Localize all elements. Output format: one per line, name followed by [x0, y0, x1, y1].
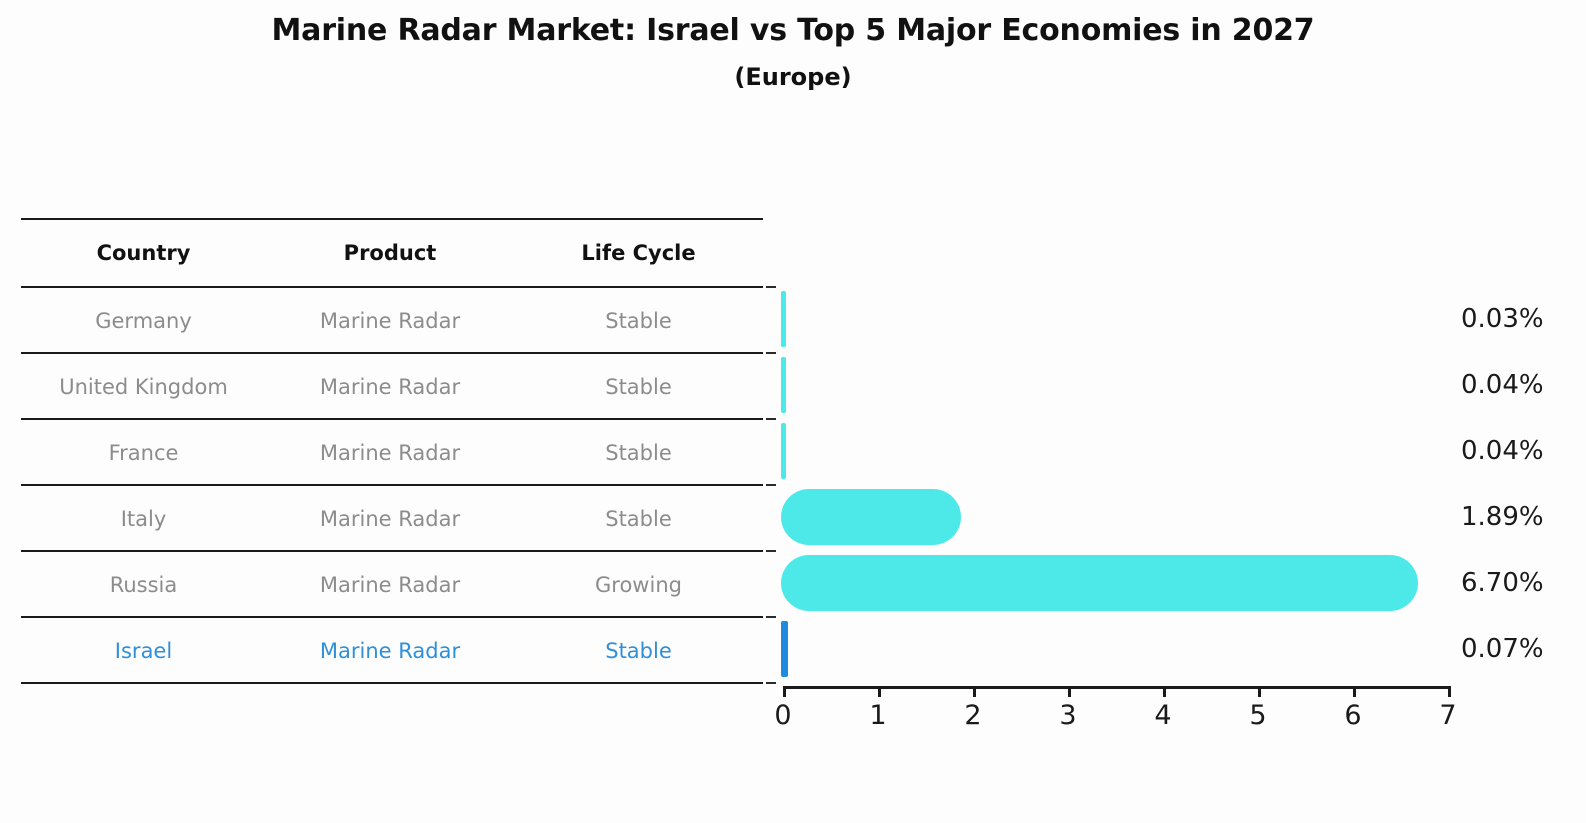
x-axis-tick-label: 4 [1154, 700, 1171, 731]
bar-united-kingdom[interactable] [781, 357, 786, 413]
row-separator-tick [766, 550, 776, 552]
x-axis-tick [1068, 686, 1071, 697]
row-separator-tick [766, 484, 776, 486]
row-separator-tick [766, 616, 776, 618]
x-axis-tick [878, 686, 881, 697]
x-axis-tick [1353, 686, 1356, 697]
bar-value-label: 0.07% [1461, 634, 1544, 664]
bar-israel[interactable] [781, 621, 788, 677]
bar-value-label: 0.03% [1461, 304, 1544, 334]
bar-france[interactable] [781, 423, 786, 479]
x-axis-tick-label: 3 [1059, 700, 1076, 731]
x-axis-tick [1258, 686, 1261, 697]
row-separator-tick [766, 418, 776, 420]
bar-russia[interactable] [781, 555, 1418, 611]
bar-germany[interactable] [781, 291, 786, 347]
x-axis-tick [1448, 686, 1451, 697]
x-axis-line [783, 686, 1448, 689]
row-separator-tick [766, 286, 776, 288]
bar-value-label: 0.04% [1461, 370, 1544, 400]
bar-italy[interactable] [781, 489, 961, 545]
x-axis-tick [1163, 686, 1166, 697]
bar-chart-plot: 0.03%0.04%0.04%1.89%6.70%0.07%01234567 [0, 0, 1586, 823]
row-separator-tick [766, 352, 776, 354]
x-axis-tick-label: 7 [1439, 700, 1456, 731]
x-axis-tick-label: 0 [774, 700, 791, 731]
bar-value-label: 0.04% [1461, 436, 1544, 466]
row-separator-tick [766, 682, 776, 684]
bar-value-label: 1.89% [1461, 502, 1544, 532]
x-axis-tick-label: 2 [964, 700, 981, 731]
bar-value-label: 6.70% [1461, 568, 1544, 598]
x-axis-tick [783, 686, 786, 697]
x-axis-tick-label: 5 [1249, 700, 1266, 731]
x-axis-tick-label: 1 [869, 700, 886, 731]
x-axis-tick-label: 6 [1344, 700, 1361, 731]
x-axis-tick [973, 686, 976, 697]
